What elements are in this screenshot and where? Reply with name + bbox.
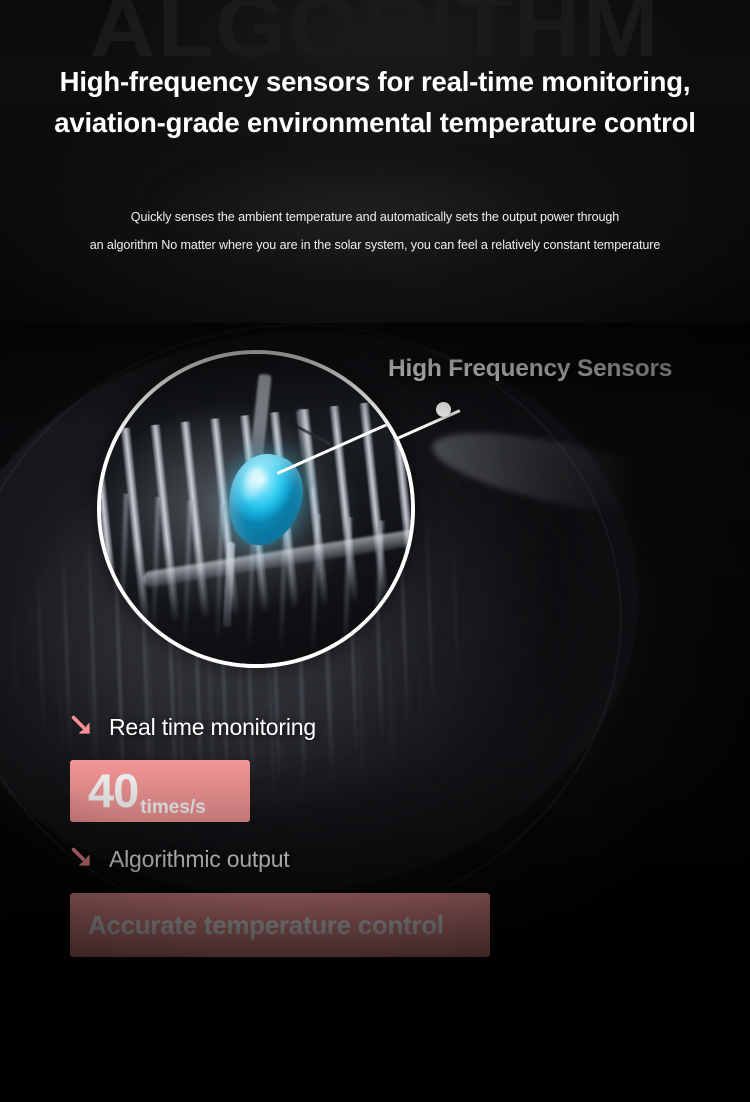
watermark-text: ALGORITHM: [89, 0, 660, 70]
status-badge-rate: 40 times/s: [70, 760, 250, 822]
arrow-down-right-icon: [70, 714, 96, 740]
product-feature-page: ALGORITHM High-frequency sensors for rea…: [0, 0, 750, 1102]
feature-label-algorithmic: Algorithmic output: [109, 846, 290, 873]
magnifier-circle-icon: [97, 350, 415, 668]
leader-dot-icon: [436, 402, 451, 417]
hero-image-section: High Frequency Sensors Real time monitor…: [0, 323, 750, 1102]
page-title: High-frequency sensors for real-time mon…: [0, 62, 750, 143]
header-section: ALGORITHM High-frequency sensors for rea…: [0, 0, 750, 323]
subcopy-line-1: Quickly senses the ambient temperature a…: [8, 203, 742, 231]
feature-list: Real time monitoring 40 times/s Algorith…: [70, 706, 500, 957]
rate-unit: times/s: [140, 777, 205, 839]
control-badge-text: Accurate temperature control: [88, 893, 444, 957]
headline-line-1: High-frequency sensors for real-time mon…: [6, 62, 744, 103]
rate-value: 40: [88, 760, 138, 822]
feature-label-real-time: Real time monitoring: [109, 714, 316, 741]
page-subtitle: Quickly senses the ambient temperature a…: [0, 203, 750, 260]
headline-line-2: aviation-grade environmental temperature…: [6, 103, 744, 144]
feature-row-real-time: Real time monitoring: [70, 706, 500, 748]
feature-row-algorithmic: Algorithmic output: [70, 838, 500, 880]
callout-label: High Frequency Sensors: [388, 355, 672, 383]
subcopy-line-2: an algorithm No matter where you are in …: [8, 231, 742, 259]
arrow-down-right-icon: [70, 846, 96, 872]
status-badge-control: Accurate temperature control: [70, 893, 490, 957]
